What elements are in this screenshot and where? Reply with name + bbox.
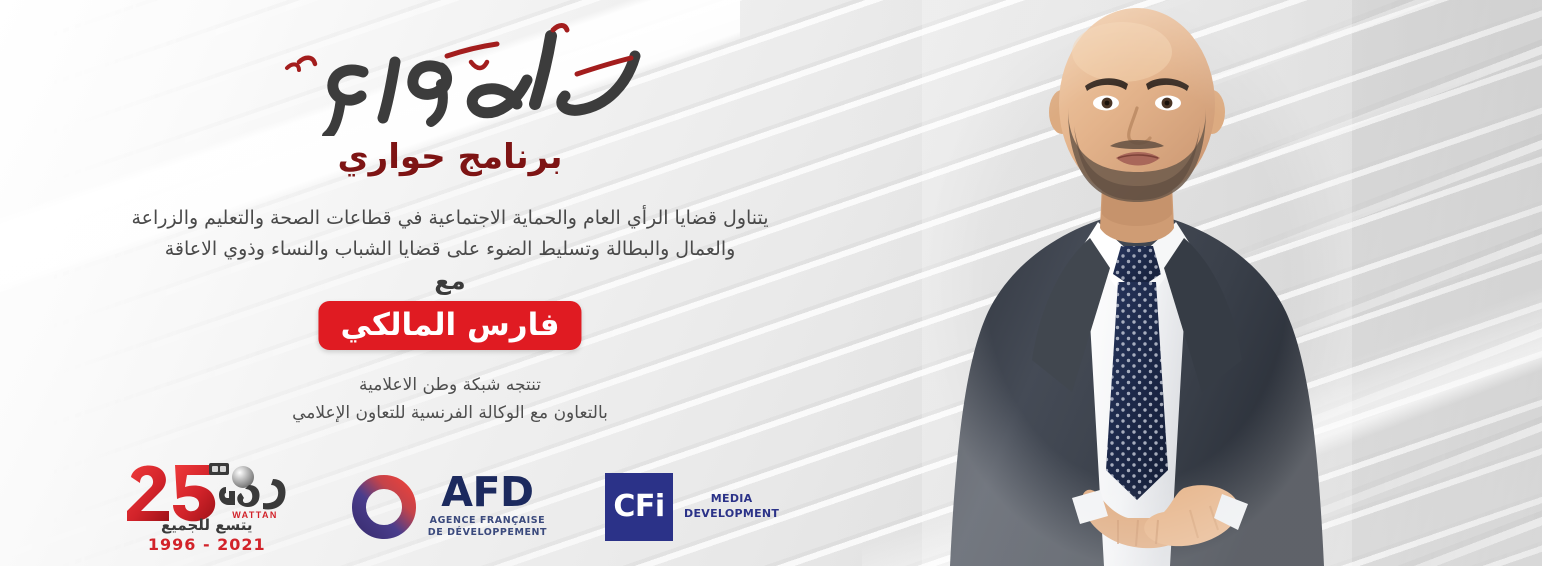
host-name-badge[interactable]: فارس المالكي (318, 301, 581, 350)
with-label: مع (0, 268, 900, 294)
wattan-tagline: يتسع للجميع (161, 516, 252, 534)
cfi-subtitle-line-2: DEVELOPMENT (684, 507, 779, 522)
cfi-logo-box: CFi (605, 473, 673, 541)
afd-acronym: AFD (428, 474, 547, 512)
show-description: يتناول قضايا الرأي العام والحماية الاجتم… (90, 203, 810, 265)
cfi-logo[interactable]: CFi MEDIA DEVELOPMENT (605, 473, 779, 541)
wattan-logo[interactable]: WATTAN يتسع للجميع 1996 - 2021 (121, 461, 293, 554)
show-title: رأي عام (0, 18, 900, 136)
show-title-calligraphy: رأي عام (235, 18, 665, 136)
credits-line-1: تنتجه شبكة وطن الاعلامية (0, 372, 900, 400)
banner-content: رأي عام (0, 0, 900, 566)
show-subtitle: برنامج حواري (0, 136, 900, 179)
afd-logo[interactable]: AFD AGENCE FRANÇAISE DE DÉVELOPPEMENT (351, 474, 547, 540)
production-credits: تنتجه شبكة وطن الاعلامية بالتعاون مع الو… (0, 372, 900, 427)
afd-subtitle-line-1: AGENCE FRANÇAISE (428, 515, 547, 528)
cfi-subtitle-line-1: MEDIA (684, 492, 779, 507)
wattan-logo-mark: WATTAN (123, 461, 291, 523)
afd-subtitle-line-2: DE DÉVELOPPEMENT (428, 527, 547, 540)
host-name-text: فارس المالكي (340, 310, 559, 341)
credits-line-2: بالتعاون مع الوكالة الفرنسية للتعاون الإ… (0, 400, 900, 428)
promo-banner: رأي عام (0, 0, 1542, 566)
cfi-acronym: CFi (613, 492, 664, 522)
wattan-years: 1996 - 2021 (148, 535, 266, 554)
afd-ring-icon (351, 474, 417, 540)
sponsor-logos: WATTAN يتسع للجميع 1996 - 2021 (0, 452, 900, 562)
description-line-2: والعمال والبطالة وتسليط الضوء على قضايا … (90, 234, 810, 265)
host-portrait (922, 0, 1352, 566)
description-line-1: يتناول قضايا الرأي العام والحماية الاجتم… (90, 203, 810, 234)
